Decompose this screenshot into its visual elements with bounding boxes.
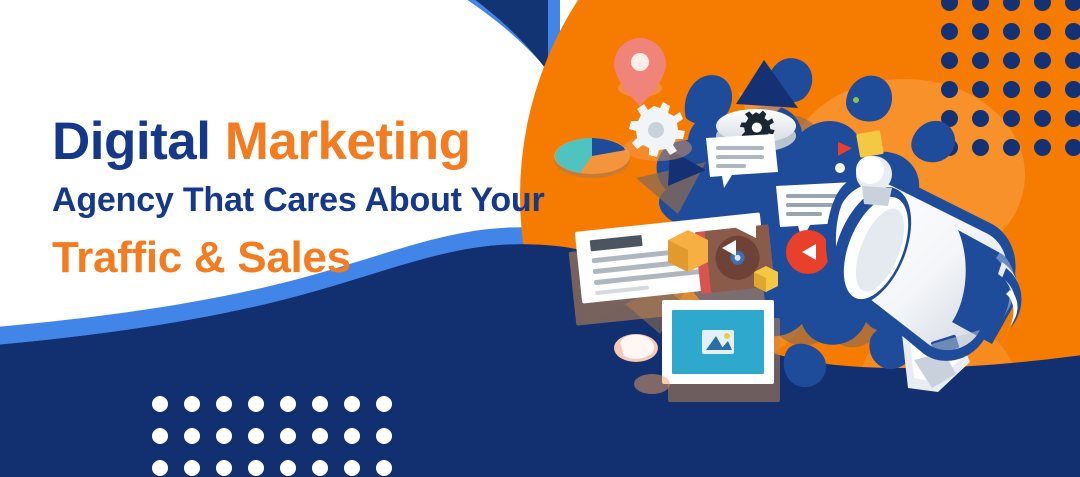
confetti-square-yellow	[856, 130, 884, 158]
headline-word-digital: Digital	[52, 112, 210, 171]
white-dot	[376, 396, 392, 412]
headline-line-1: Digital Marketing	[52, 114, 552, 169]
headline-space	[210, 112, 224, 171]
white-dot	[376, 460, 392, 476]
white-dot	[280, 396, 296, 412]
headline-line-2: Agency That Cares About Your	[52, 183, 552, 219]
megaphone-illustration-svg	[540, 0, 1080, 477]
white-dot-grid	[152, 396, 408, 477]
white-dot	[184, 428, 200, 444]
photo-card	[662, 300, 780, 402]
confetti-dot-green	[853, 97, 859, 103]
blob-orange-soft	[634, 374, 670, 394]
white-dot	[248, 428, 264, 444]
white-dot	[312, 460, 328, 476]
white-dot	[312, 396, 328, 412]
white-dot	[216, 396, 232, 412]
white-dot	[280, 428, 296, 444]
white-dot	[152, 396, 168, 412]
white-dot	[216, 460, 232, 476]
megaphone	[817, 156, 1021, 392]
white-dot	[152, 460, 168, 476]
headline-word-marketing: Marketing	[225, 112, 471, 171]
white-dot	[184, 460, 200, 476]
white-dot	[152, 428, 168, 444]
white-dot	[312, 428, 328, 444]
headline-block: Digital Marketing Agency That Cares Abou…	[52, 114, 552, 281]
photo-placeholder-icon	[702, 330, 734, 354]
white-dot	[248, 396, 264, 412]
white-dot	[248, 460, 264, 476]
white-dot	[376, 428, 392, 444]
headline-line-3: Traffic & Sales	[52, 235, 552, 281]
pie-chart-icon	[554, 138, 630, 178]
white-dot	[344, 460, 360, 476]
white-dot	[216, 428, 232, 444]
white-dot	[344, 396, 360, 412]
white-dot	[280, 460, 296, 476]
gear-icon	[624, 102, 692, 161]
megaphone-illustration	[540, 0, 1080, 477]
marketing-banner: Digital Marketing Agency That Cares Abou…	[0, 0, 1080, 477]
play-button-circle	[786, 230, 830, 274]
white-dot	[344, 428, 360, 444]
white-dot	[184, 396, 200, 412]
location-pin-icon	[614, 38, 666, 106]
confetti-dot-white	[835, 163, 845, 173]
